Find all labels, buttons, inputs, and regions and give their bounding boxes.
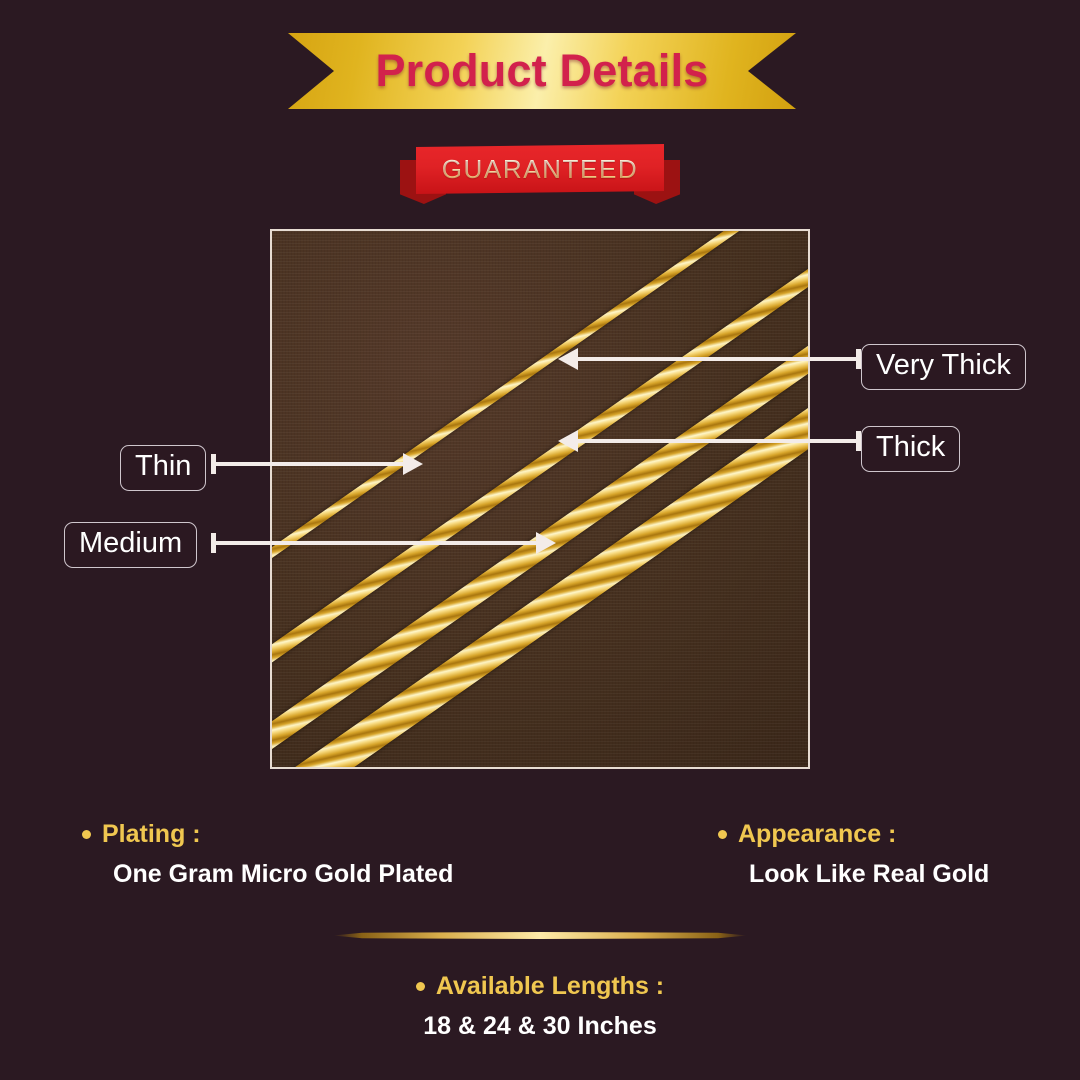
callout-label-very-thick: Very Thick [861, 344, 1026, 390]
leader-arrow-very-thick [558, 348, 578, 370]
bullet-icon [416, 982, 425, 991]
guaranteed-badge-label: GUARANTEED [442, 154, 639, 185]
feature-appearance-heading: Appearance : [718, 820, 989, 849]
leader-arrow-thick [558, 430, 578, 452]
leader-arrow-thin [403, 453, 423, 475]
callout-label-medium: Medium [64, 522, 197, 568]
leader-tick-thin [211, 454, 216, 474]
leader-line-thick [578, 439, 861, 443]
feature-lengths-heading-text: Available Lengths : [436, 972, 664, 1001]
leader-tick-medium [211, 533, 216, 553]
callout-label-thick: Thick [861, 426, 960, 472]
leader-arrow-medium [536, 532, 556, 554]
product-photo [270, 229, 810, 769]
feature-appearance-value: Look Like Real Gold [749, 860, 989, 889]
feature-lengths-heading: Available Lengths : [416, 972, 664, 1001]
feature-plating-heading-text: Plating : [102, 820, 201, 849]
page-title: Product Details [375, 45, 708, 97]
title-banner: Product Details [288, 33, 796, 109]
callout-label-thin: Thin [120, 445, 206, 491]
feature-available-lengths: Available Lengths : 18 & 24 & 30 Inches [0, 972, 1080, 1041]
feature-plating-heading: Plating : [82, 820, 453, 849]
bullet-icon [718, 830, 727, 839]
feature-lengths-value: 18 & 24 & 30 Inches [0, 1012, 1080, 1041]
feature-plating: Plating : One Gram Micro Gold Plated [82, 820, 453, 889]
feature-appearance: Appearance : Look Like Real Gold [718, 820, 989, 889]
leader-tick-very-thick [856, 349, 861, 369]
bullet-icon [82, 830, 91, 839]
ribbon-band: GUARANTEED [416, 144, 664, 194]
guaranteed-ribbon: GUARANTEED [400, 130, 680, 206]
leader-tick-thick [856, 431, 861, 451]
gold-divider [333, 932, 747, 939]
leader-line-thin [211, 462, 405, 466]
leader-line-medium [211, 541, 538, 545]
feature-plating-value: One Gram Micro Gold Plated [113, 860, 453, 889]
infographic-canvas: Product Details GUARANTEED Very Thick Th… [0, 0, 1080, 1080]
feature-appearance-heading-text: Appearance : [738, 820, 896, 849]
leader-line-very-thick [578, 357, 861, 361]
